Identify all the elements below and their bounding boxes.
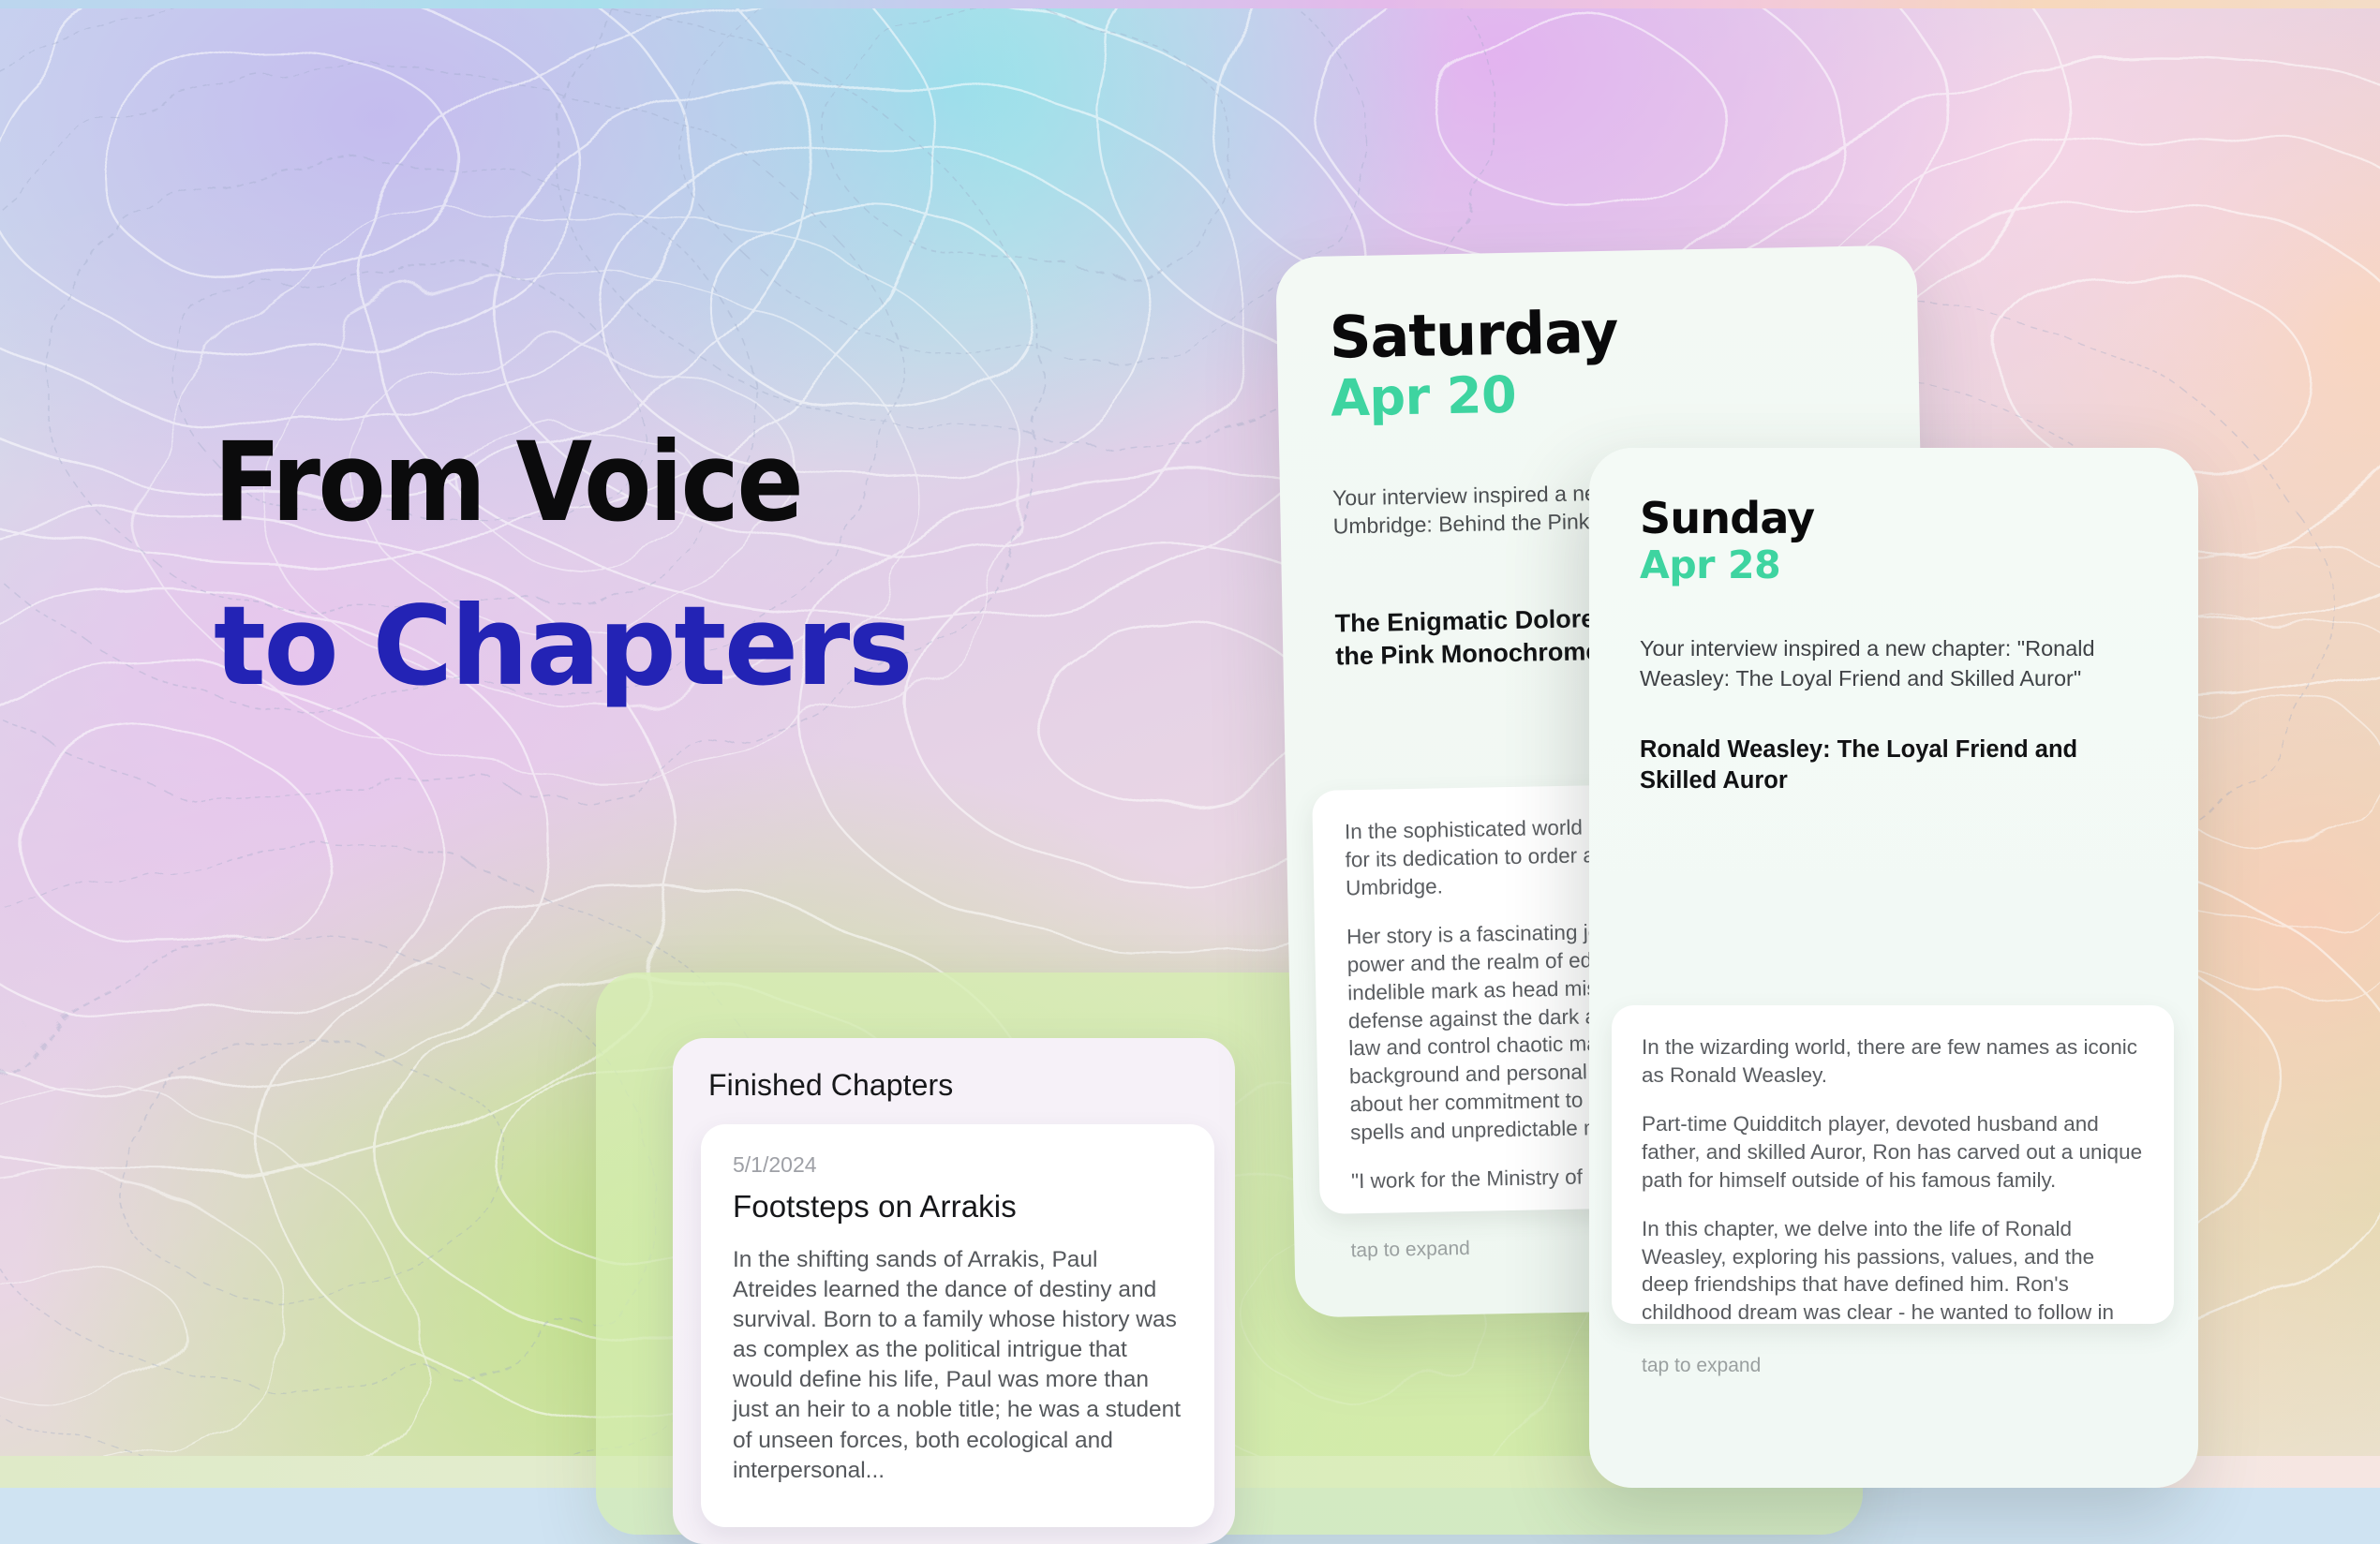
- page-title: From Voice to Chapters: [214, 427, 1057, 701]
- sunday-intro-text: Your interview inspired a new chapter: "…: [1640, 634, 2150, 693]
- saturday-tap-to-expand[interactable]: tap to expand: [1350, 1238, 1470, 1262]
- headline-line-2: to Chapters: [214, 591, 1057, 701]
- saturday-date-label: Apr 20: [1331, 362, 1920, 426]
- sunday-chapter-title: Ronald Weasley: The Loyal Friend and Ski…: [1640, 735, 2146, 796]
- finished-chapters-card[interactable]: Finished Chapters 5/1/2024 Footsteps on …: [673, 1038, 1235, 1544]
- chapter-date: 5/1/2024: [733, 1152, 1183, 1178]
- finished-chapters-heading: Finished Chapters: [708, 1068, 953, 1103]
- sunday-body-box[interactable]: In the wizarding world, there are few na…: [1612, 1005, 2174, 1324]
- sunday-weekday-label: Sunday: [1640, 497, 2198, 540]
- sunday-entry-card[interactable]: Sunday Apr 28 Your interview inspired a …: [1589, 448, 2198, 1488]
- chapter-body-text: In the shifting sands of Arrakis, Paul A…: [733, 1245, 1183, 1486]
- sunday-paragraph: Part-time Quidditch player, devoted husb…: [1642, 1110, 2144, 1195]
- headline-line-1: From Voice: [214, 427, 1057, 537]
- top-color-bar: [0, 0, 2380, 8]
- saturday-weekday-label: Saturday: [1329, 298, 1918, 367]
- chapter-title: Footsteps on Arrakis: [733, 1189, 1183, 1225]
- list-item[interactable]: 5/1/2024 Footsteps on Arrakis In the shi…: [701, 1124, 1214, 1527]
- sunday-date-label: Apr 28: [1640, 545, 2198, 586]
- sunday-tap-to-expand[interactable]: tap to expand: [1642, 1355, 1761, 1377]
- sunday-paragraph: In this chapter, we delve into the life …: [1642, 1215, 2144, 1324]
- sunday-paragraph: In the wizarding world, there are few na…: [1642, 1033, 2144, 1090]
